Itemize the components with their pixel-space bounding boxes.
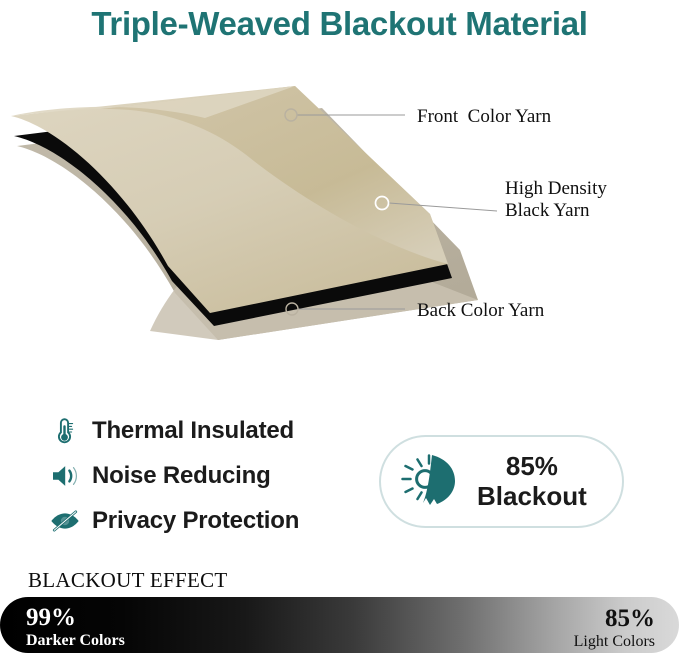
blackout-badge: 85% Blackout xyxy=(379,435,624,528)
fabric-layers-diagram: Front Color Yarn High Density Black Yarn… xyxy=(0,78,679,368)
features-section: Thermal Insulated Noise Reducing xyxy=(0,404,679,554)
bar-stat-darker-colors: 99% Darker Colors xyxy=(26,605,125,649)
callout-label-back-color-yarn: Back Color Yarn xyxy=(417,300,544,322)
thermometer-icon xyxy=(47,414,83,448)
bar-percent-darker: 99% xyxy=(26,605,125,630)
bar-label-darker: Darker Colors xyxy=(26,633,125,649)
feature-item-noise-reducing: Noise Reducing xyxy=(47,453,367,498)
badge-text: 85% Blackout xyxy=(477,452,587,510)
bar-label-light: Light Colors xyxy=(574,634,655,650)
speaker-sound-icon xyxy=(47,459,83,493)
page-title: Triple-Weaved Blackout Material xyxy=(0,0,679,48)
feature-label-privacy-protection: Privacy Protection xyxy=(92,507,299,535)
feature-label-thermal-insulated: Thermal Insulated xyxy=(92,417,294,445)
blackout-effect-section: BLACKOUT EFFECT 99% Darker Colors 85% Li… xyxy=(0,568,679,655)
feature-label-noise-reducing: Noise Reducing xyxy=(92,462,271,490)
badge-label: Blackout xyxy=(477,481,587,511)
callout-label-front-color-yarn: Front Color Yarn xyxy=(417,106,551,128)
eye-slash-icon xyxy=(47,504,83,538)
bar-stat-light-colors: 85% Light Colors xyxy=(574,606,655,650)
bar-percent-light: 85% xyxy=(574,606,655,631)
feature-item-privacy-protection: Privacy Protection xyxy=(47,498,367,543)
fabric-layers-illustration xyxy=(0,78,679,368)
blackout-gradient-bar: 99% Darker Colors 85% Light Colors xyxy=(0,597,679,653)
feature-item-thermal-insulated: Thermal Insulated xyxy=(47,408,367,453)
callout-label-high-density-black-yarn: High Density Black Yarn xyxy=(505,178,607,223)
badge-percent: 85% xyxy=(506,451,558,481)
sun-blocked-by-curtain-icon xyxy=(397,452,467,512)
blackout-effect-heading: BLACKOUT EFFECT xyxy=(28,568,228,593)
feature-list: Thermal Insulated Noise Reducing xyxy=(47,408,367,543)
